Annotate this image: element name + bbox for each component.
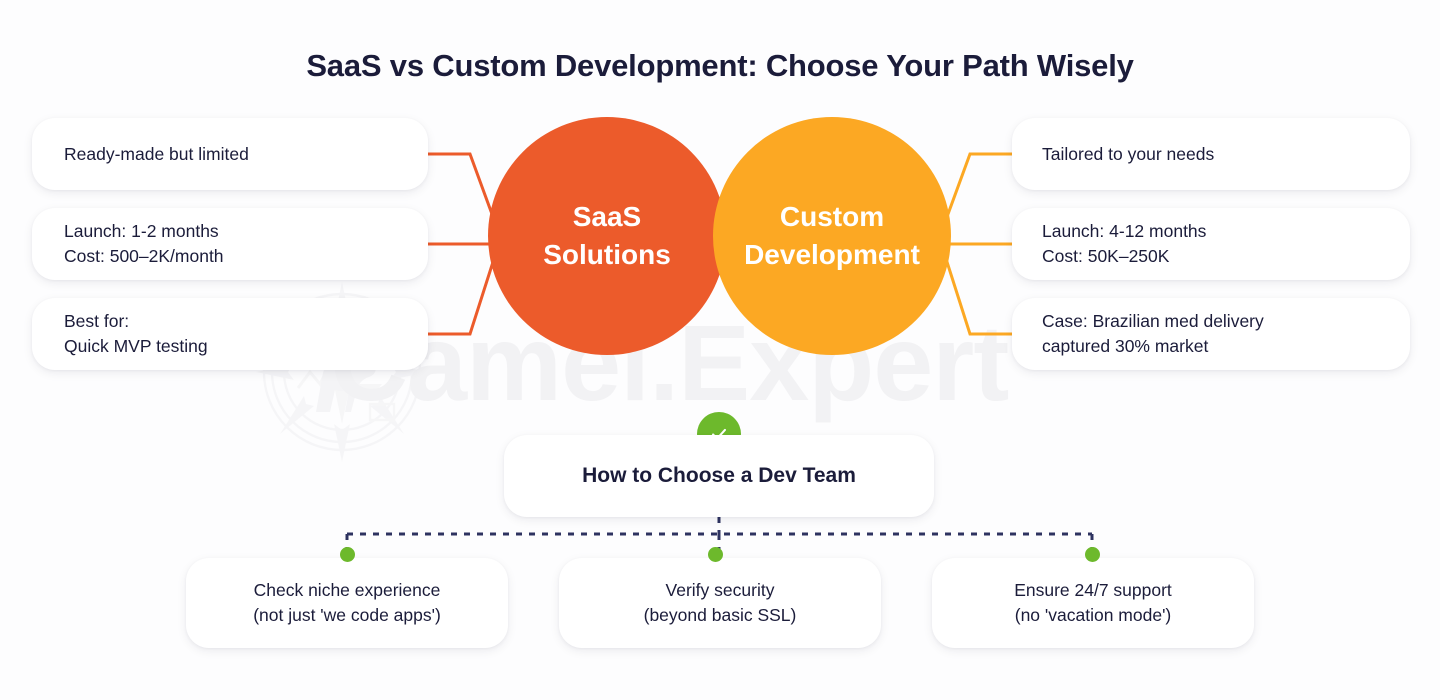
dev-team-heading: How to Choose a Dev Team xyxy=(582,464,856,488)
list-item[interactable]: Case: Brazilian med delivery captured 30… xyxy=(1012,298,1410,370)
list-item[interactable]: Verify security (beyond basic SSL) xyxy=(559,558,881,648)
dev-team-heading-card[interactable]: How to Choose a Dev Team xyxy=(504,435,934,517)
custom-development-circle[interactable]: Custom Development xyxy=(713,117,951,355)
saas-solutions-circle[interactable]: SaaS Solutions xyxy=(488,117,726,355)
list-item[interactable]: Launch: 1-2 months Cost: 500–2K/month xyxy=(32,208,428,280)
saas-circle-label: SaaS Solutions xyxy=(543,198,671,274)
infographic-canvas: Camel.Expert SaaS vs Custom Development:… xyxy=(0,0,1440,700)
step-dot-icon xyxy=(708,547,723,562)
list-item[interactable]: Ensure 24/7 support (no 'vacation mode') xyxy=(932,558,1254,648)
custom-circle-label: Custom Development xyxy=(744,198,920,274)
page-title: SaaS vs Custom Development: Choose Your … xyxy=(0,48,1440,84)
saas-card-text: Ready-made but limited xyxy=(64,142,249,167)
list-item[interactable]: Check niche experience (not just 'we cod… xyxy=(186,558,508,648)
custom-card-text: Case: Brazilian med delivery captured 30… xyxy=(1042,309,1264,359)
dev-team-step-text: Ensure 24/7 support (no 'vacation mode') xyxy=(1014,578,1172,628)
custom-card-text: Tailored to your needs xyxy=(1042,142,1214,167)
step-dot-icon xyxy=(340,547,355,562)
dev-team-step-text: Check niche experience (not just 'we cod… xyxy=(253,578,441,628)
saas-card-text: Best for: Quick MVP testing xyxy=(64,309,208,359)
list-item[interactable]: Launch: 4-12 months Cost: 50K–250K xyxy=(1012,208,1410,280)
list-item[interactable]: Ready-made but limited xyxy=(32,118,428,190)
dev-team-step-text: Verify security (beyond basic SSL) xyxy=(644,578,797,628)
step-dot-icon xyxy=(1085,547,1100,562)
list-item[interactable]: Tailored to your needs xyxy=(1012,118,1410,190)
saas-card-text: Launch: 1-2 months Cost: 500–2K/month xyxy=(64,219,224,269)
list-item[interactable]: Best for: Quick MVP testing xyxy=(32,298,428,370)
custom-card-text: Launch: 4-12 months Cost: 50K–250K xyxy=(1042,219,1206,269)
